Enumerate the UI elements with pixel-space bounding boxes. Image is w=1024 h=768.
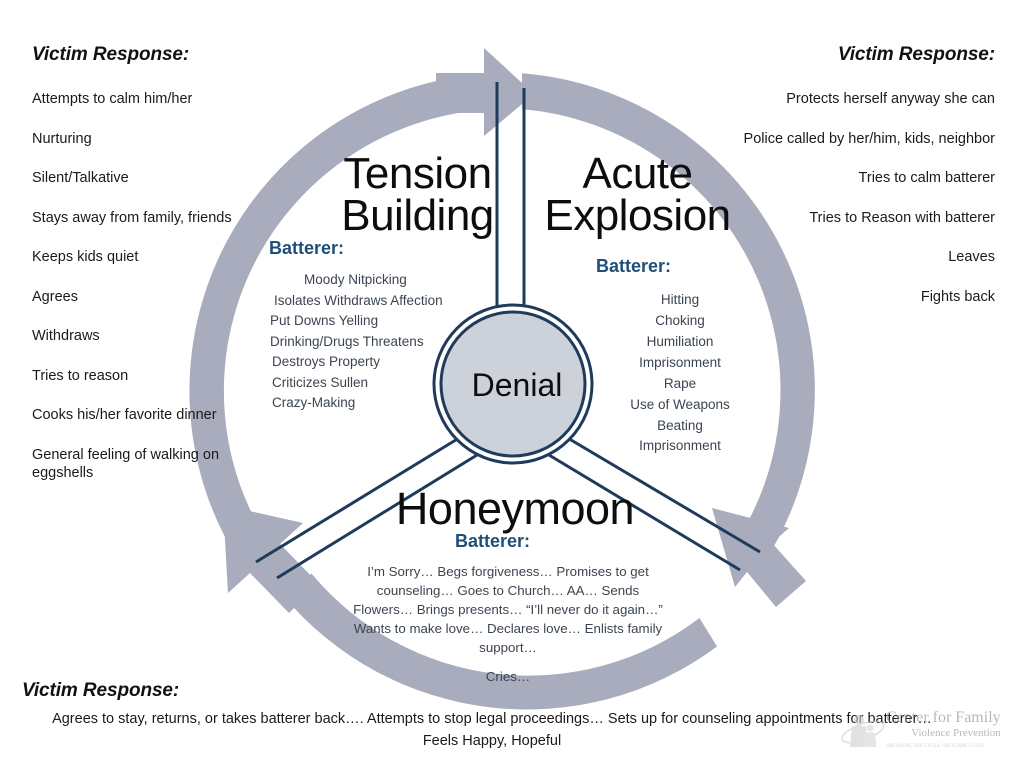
- diagram-stage: Victim Response: Attempts to calm him/he…: [0, 0, 1024, 768]
- left-victim-response-item: Stays away from family, friends: [32, 209, 247, 228]
- left-victim-response-item: Tries to reason: [32, 367, 247, 386]
- acute-batterer-item: Hitting: [600, 290, 760, 311]
- logo-text-group: Center for Family Violence Prevention BR…: [886, 710, 1001, 749]
- acute-batterer-item: Use of Weapons: [600, 395, 760, 416]
- honeymoon-paragraph-main: I’m Sorry… Begs forgiveness… Promises to…: [353, 564, 663, 655]
- tension-batterer-item: Moody Nitpicking: [252, 270, 472, 291]
- organization-logo: Center for Family Violence Prevention BR…: [840, 706, 1016, 762]
- bottom-victim-response-lines: Agrees to stay, returns, or takes batter…: [22, 709, 962, 753]
- logo-line-3: BREAKING THE CYCLE • BUILDING LIVES: [886, 744, 1001, 749]
- logo-line-1: Center for Family: [886, 710, 1001, 727]
- phase-title-line: Tension: [330, 153, 505, 195]
- batterer-label-acute: Batterer:: [596, 256, 671, 277]
- left-victim-response-item: General feeling of walking on eggshells: [32, 446, 247, 483]
- left-victim-response-item: Attempts to calm him/her: [32, 90, 247, 109]
- left-victim-response-item: Withdraws: [32, 327, 247, 346]
- right-victim-response-item: Protects herself anyway she can: [735, 90, 995, 109]
- right-victim-response-heading: Victim Response:: [735, 44, 995, 66]
- right-victim-response-item: Leaves: [735, 248, 995, 267]
- phase-title-line: Acute: [535, 153, 740, 195]
- left-victim-response-heading: Victim Response:: [32, 44, 247, 66]
- acute-batterer-item: Imprisonment: [600, 353, 760, 374]
- left-victim-response-column: Victim Response: Attempts to calm him/he…: [32, 44, 247, 504]
- arrowhead-bottom-right: [712, 508, 806, 607]
- phase-title-acute-explosion: Acute Explosion: [535, 153, 740, 237]
- family-silhouette-icon: [840, 708, 886, 752]
- acute-batterer-item: Beating: [600, 416, 760, 437]
- bottom-victim-response-line: Agrees to stay, returns, or takes batter…: [22, 709, 962, 731]
- tension-batterer-item: Put Downs Yelling: [252, 311, 472, 332]
- tension-batterer-item: Isolates Withdraws Affection: [252, 291, 472, 312]
- acute-batterer-list: Hitting Choking Humiliation Imprisonment…: [600, 290, 760, 457]
- left-victim-response-item: Keeps kids quiet: [32, 248, 247, 267]
- acute-batterer-item: Rape: [600, 374, 760, 395]
- batterer-label-honeymoon: Batterer:: [455, 531, 530, 552]
- right-victim-response-column: Victim Response: Protects herself anyway…: [735, 44, 995, 327]
- bottom-victim-response-heading: Victim Response:: [22, 680, 1002, 702]
- acute-batterer-item: Imprisonment: [600, 436, 760, 457]
- phase-title-line: Building: [330, 195, 505, 237]
- right-victim-response-item: Tries to Reason with batterer: [735, 209, 995, 228]
- bottom-victim-response-line: Feels Happy, Hopeful: [22, 731, 962, 753]
- acute-batterer-item: Choking: [600, 311, 760, 332]
- center-denial-label: Denial: [437, 367, 597, 404]
- right-victim-response-item: Police called by her/him, kids, neighbor: [735, 130, 995, 149]
- right-victim-response-item: Fights back: [735, 288, 995, 307]
- phase-title-line: Explosion: [535, 195, 740, 237]
- batterer-label-tension: Batterer:: [269, 238, 344, 259]
- tension-batterer-item: Drinking/Drugs Threatens: [252, 332, 472, 353]
- left-victim-response-item: Silent/Talkative: [32, 169, 247, 188]
- left-victim-response-item: Cooks his/her favorite dinner: [32, 406, 247, 425]
- honeymoon-batterer-paragraph: I’m Sorry… Begs forgiveness… Promises to…: [352, 563, 664, 687]
- left-victim-response-item: Nurturing: [32, 130, 247, 149]
- arrowhead-top: [436, 48, 534, 136]
- right-victim-response-item: Tries to calm batterer: [735, 169, 995, 188]
- logo-line-2: Violence Prevention: [886, 727, 1001, 739]
- arrowhead-bottom-left: [223, 505, 319, 613]
- left-victim-response-item: Agrees: [32, 288, 247, 307]
- acute-batterer-item: Humiliation: [600, 332, 760, 353]
- phase-title-honeymoon: Honeymoon: [355, 487, 675, 530]
- phase-title-tension-building: Tension Building: [330, 153, 505, 237]
